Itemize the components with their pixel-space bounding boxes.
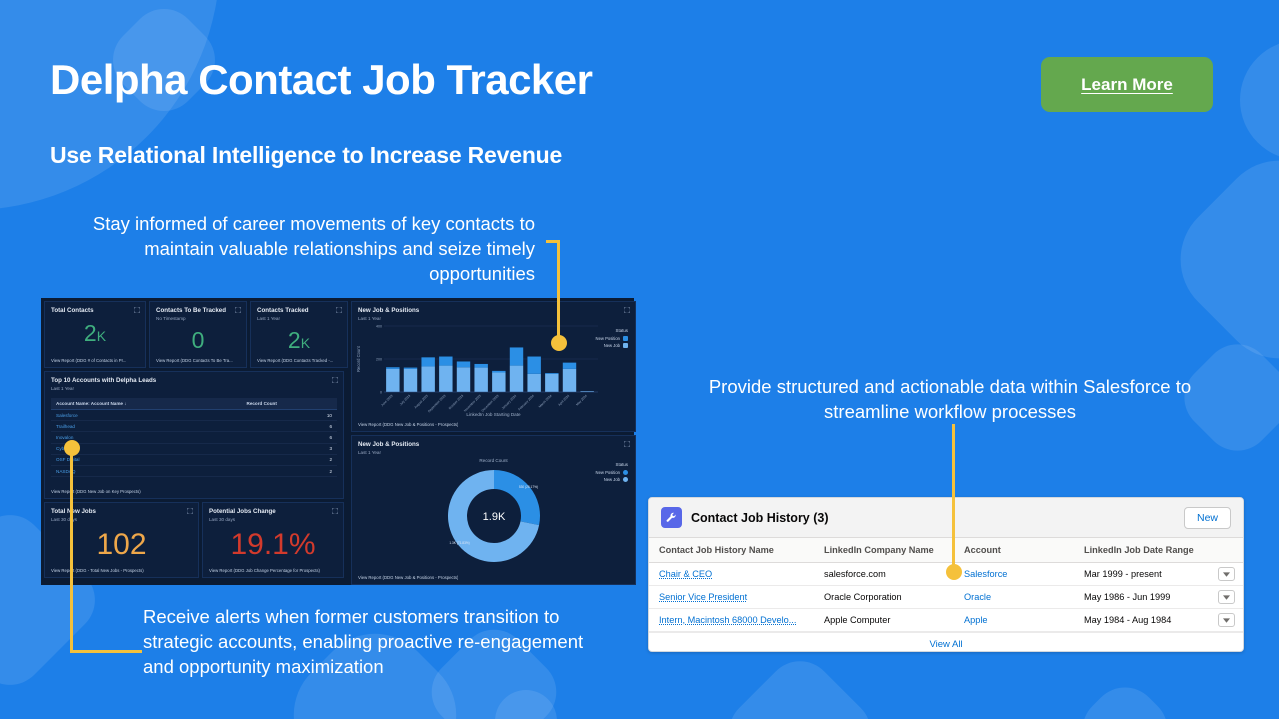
- chevron-down-icon[interactable]: [1218, 567, 1235, 581]
- kpi-subtitle: No Timestamp: [156, 315, 240, 322]
- table-row[interactable]: Salesforce10: [51, 410, 337, 421]
- column-header-date-range[interactable]: LinkedIn Job Date Range: [1074, 538, 1209, 563]
- svg-text:200: 200: [376, 358, 382, 362]
- callout-text-top: Stay informed of career movements of key…: [60, 211, 535, 286]
- card-title: New Job & Positions: [358, 307, 629, 315]
- learn-more-button[interactable]: Learn More: [1041, 57, 1213, 112]
- card-title: New Job & Positions: [358, 441, 629, 449]
- callout-text-right: Provide structured and actionable data w…: [700, 374, 1200, 424]
- table-header-row: Account Name: Account Name ↓ Record Coun…: [51, 398, 337, 410]
- card-subtitle: Last 1 Year: [358, 315, 629, 322]
- kpi-card-contacts-to-be-tracked[interactable]: Contacts To Be Tracked No Timestamp 0 Vi…: [149, 301, 247, 368]
- decor-shape-square: [1156, 136, 1279, 383]
- column-header-company[interactable]: LinkedIn Company Name: [814, 538, 954, 563]
- panel-title: Contact Job History (3): [691, 511, 829, 525]
- svg-text:April 2024: April 2024: [557, 394, 570, 407]
- kpi-footer-link[interactable]: View Report (DDG # of Contacts in Pr...: [51, 358, 126, 363]
- svg-text:0: 0: [380, 391, 382, 395]
- card-footer-link[interactable]: View Report (DDG New Job & Positions - P…: [358, 575, 458, 580]
- legend-swatch: [623, 343, 628, 348]
- donut-chart-legend: Status New Position New Job: [596, 462, 628, 484]
- expand-icon[interactable]: [235, 307, 241, 313]
- kpi-number: 2: [288, 327, 301, 353]
- svg-text:September 2023: September 2023: [427, 394, 447, 414]
- connector-dot: [551, 335, 567, 351]
- legend-label: New Job: [604, 477, 620, 482]
- cell-row-actions[interactable]: [1209, 563, 1243, 586]
- svg-text:March 2024: March 2024: [538, 394, 553, 409]
- cell-account[interactable]: Apple: [954, 609, 1074, 632]
- learn-more-label: Learn More: [1081, 75, 1173, 95]
- expand-icon[interactable]: [624, 441, 630, 447]
- column-header-account-name[interactable]: Account Name: Account Name ↓: [51, 398, 242, 410]
- legend-item-new-position[interactable]: New Position: [596, 470, 628, 475]
- svg-text:July 2023: July 2023: [399, 394, 412, 407]
- bar-chart-legend: Status New Position New Job: [596, 328, 628, 350]
- svg-text:400: 400: [376, 325, 382, 329]
- column-header-record-count[interactable]: Record Count: [242, 398, 338, 410]
- table-row[interactable]: Senior Vice PresidentOracle CorporationO…: [649, 586, 1243, 609]
- legend-item-new-job[interactable]: New Job: [596, 477, 628, 482]
- connector-line-top: [546, 240, 560, 350]
- svg-text:1.9K: 1.9K: [483, 511, 506, 523]
- donut-chart-plot: 530 (28.17%)1.3K (71.83%)1.9K: [434, 466, 554, 566]
- view-all-link[interactable]: View All: [929, 639, 962, 650]
- column-header-name[interactable]: Contact Job History Name: [649, 538, 814, 563]
- kpi-footer-link[interactable]: View Report (DDG Contacts To Be Tra...: [156, 358, 233, 363]
- svg-text:January 2024: January 2024: [501, 394, 518, 411]
- column-header-account[interactable]: Account: [954, 538, 1074, 563]
- cell-date-range: Mar 1999 - present: [1074, 563, 1209, 586]
- legend-label: New Position: [596, 470, 620, 475]
- new-button[interactable]: New: [1184, 507, 1231, 529]
- cell-company-name: Oracle Corporation: [814, 586, 954, 609]
- cell-record-count: 10: [242, 410, 338, 421]
- kpi-card-potential-jobs-change[interactable]: Potential Jobs Change Last 30 days 19.1%…: [202, 502, 344, 578]
- cell-account-name[interactable]: Salesforce: [51, 410, 242, 421]
- connector-line-bottom: [70, 440, 145, 655]
- page-title: Delpha Contact Job Tracker: [50, 56, 593, 104]
- kpi-value: 0: [156, 329, 240, 352]
- expand-icon[interactable]: [332, 508, 338, 514]
- expand-icon[interactable]: [624, 307, 630, 313]
- bar-chart-plot: 0200400June 2023July 2023August 2023Sept…: [370, 322, 602, 414]
- kpi-footer-link[interactable]: View Report (DDG Job Change Percentage f…: [209, 568, 320, 573]
- kpi-title: Potential Jobs Change: [209, 508, 337, 516]
- legend-swatch: [623, 470, 628, 475]
- decor-shape-square: [1068, 673, 1181, 719]
- cell-record-count: 6: [242, 432, 338, 443]
- connector-line-right: [946, 424, 962, 584]
- donut-value-label: Record Count: [352, 458, 635, 463]
- kpi-suffix: K: [97, 328, 106, 344]
- table-row[interactable]: Trailhead6: [51, 421, 337, 432]
- page-subtitle: Use Relational Intelligence to Increase …: [50, 142, 562, 169]
- cell-company-name: Apple Computer: [814, 609, 954, 632]
- cell-account-name[interactable]: Trailhead: [51, 421, 242, 432]
- cell-row-actions[interactable]: [1209, 586, 1243, 609]
- chevron-down-icon[interactable]: [1218, 590, 1235, 604]
- cell-record-count: 2: [242, 454, 338, 465]
- bar-chart-y-axis-label: Record Count: [356, 346, 361, 372]
- svg-text:February 2024: February 2024: [517, 394, 535, 412]
- kpi-title: Total Contacts: [51, 307, 139, 315]
- bar-chart-x-axis-label: LinkedIn Job Starting Date: [352, 412, 635, 417]
- kpi-card-total-contacts[interactable]: Total Contacts 2K View Report (DDG # of …: [44, 301, 146, 368]
- cell-record-count: 2: [242, 465, 338, 476]
- kpi-suffix: K: [301, 335, 310, 351]
- cell-account[interactable]: Oracle: [954, 586, 1074, 609]
- kpi-value: 19.1%: [209, 530, 337, 560]
- cell-job-history-name[interactable]: Intern, Macintosh 68000 Develo...: [649, 609, 814, 632]
- kpi-value: 2K: [257, 329, 341, 352]
- legend-item-new-position[interactable]: New Position: [596, 336, 628, 341]
- legend-swatch: [623, 336, 628, 341]
- kpi-card-contacts-tracked[interactable]: Contacts Tracked Last 1 Year 2K View Rep…: [250, 301, 348, 368]
- cell-row-actions[interactable]: [1209, 609, 1243, 632]
- table-row[interactable]: Intern, Macintosh 68000 Develo...Apple C…: [649, 609, 1243, 632]
- svg-text:October 2023: October 2023: [448, 394, 465, 411]
- cell-record-count: 6: [242, 421, 338, 432]
- cell-date-range: May 1984 - Aug 1984: [1074, 609, 1209, 632]
- cell-company-name: salesforce.com: [814, 563, 954, 586]
- kpi-value: 2K: [51, 322, 139, 345]
- svg-text:August 2023: August 2023: [413, 394, 429, 410]
- expand-icon[interactable]: [134, 307, 140, 313]
- card-subtitle: Last 1 Year: [358, 449, 629, 456]
- decor-shape-square: [1215, 15, 1279, 185]
- view-all-row: View All: [649, 632, 1243, 652]
- expand-icon[interactable]: [187, 508, 193, 514]
- cell-job-history-name[interactable]: Chair & CEO: [649, 563, 814, 586]
- decor-shape-square: [715, 647, 885, 719]
- legend-label: New Job: [604, 343, 620, 348]
- expand-icon[interactable]: [332, 377, 338, 383]
- expand-icon[interactable]: [336, 307, 342, 313]
- card-footer-link[interactable]: View Report (DDG New Job & Positions - P…: [358, 422, 458, 427]
- legend-label: New Position: [596, 336, 620, 341]
- card-title: Top 10 Accounts with Delpha Leads: [51, 377, 337, 385]
- svg-text:530 (28.17%): 530 (28.17%): [519, 485, 538, 489]
- connector-dot: [946, 564, 962, 580]
- cell-record-count: 3: [242, 443, 338, 454]
- bar-chart-card: New Job & Positions Last 1 Year Record C…: [351, 301, 636, 432]
- card-subtitle: Last 1 Year: [51, 385, 337, 392]
- legend-title: Status: [596, 328, 628, 333]
- chevron-down-icon[interactable]: [1218, 613, 1235, 627]
- cell-account[interactable]: Salesforce: [954, 563, 1074, 586]
- connector-dot: [64, 440, 80, 456]
- kpi-number: 2: [84, 320, 97, 346]
- kpi-subtitle: Last 30 days: [209, 516, 337, 523]
- svg-text:1.3K (71.83%): 1.3K (71.83%): [449, 541, 469, 545]
- cell-job-history-name[interactable]: Senior Vice President: [649, 586, 814, 609]
- kpi-title: Contacts Tracked: [257, 307, 341, 315]
- svg-text:May 2024: May 2024: [575, 394, 588, 407]
- svg-text:December 2023: December 2023: [481, 394, 500, 413]
- svg-text:November 2023: November 2023: [463, 394, 482, 413]
- donut-chart-card: New Job & Positions Last 1 Year Record C…: [351, 435, 636, 585]
- svg-text:June 2023: June 2023: [380, 394, 394, 408]
- kpi-number: 0: [192, 327, 205, 353]
- kpi-subtitle: Last 1 Year: [257, 315, 341, 322]
- column-header-actions: [1209, 538, 1243, 563]
- legend-item-new-job[interactable]: New Job: [596, 343, 628, 348]
- legend-title: Status: [596, 462, 628, 467]
- wrench-icon: [661, 507, 682, 528]
- kpi-title: Contacts To Be Tracked: [156, 307, 240, 315]
- cell-date-range: May 1986 - Jun 1999: [1074, 586, 1209, 609]
- kpi-footer-link[interactable]: View Report (DDG Contacts Tracked -...: [257, 358, 333, 363]
- callout-text-bottom: Receive alerts when former customers tra…: [143, 604, 618, 679]
- legend-swatch: [623, 477, 628, 482]
